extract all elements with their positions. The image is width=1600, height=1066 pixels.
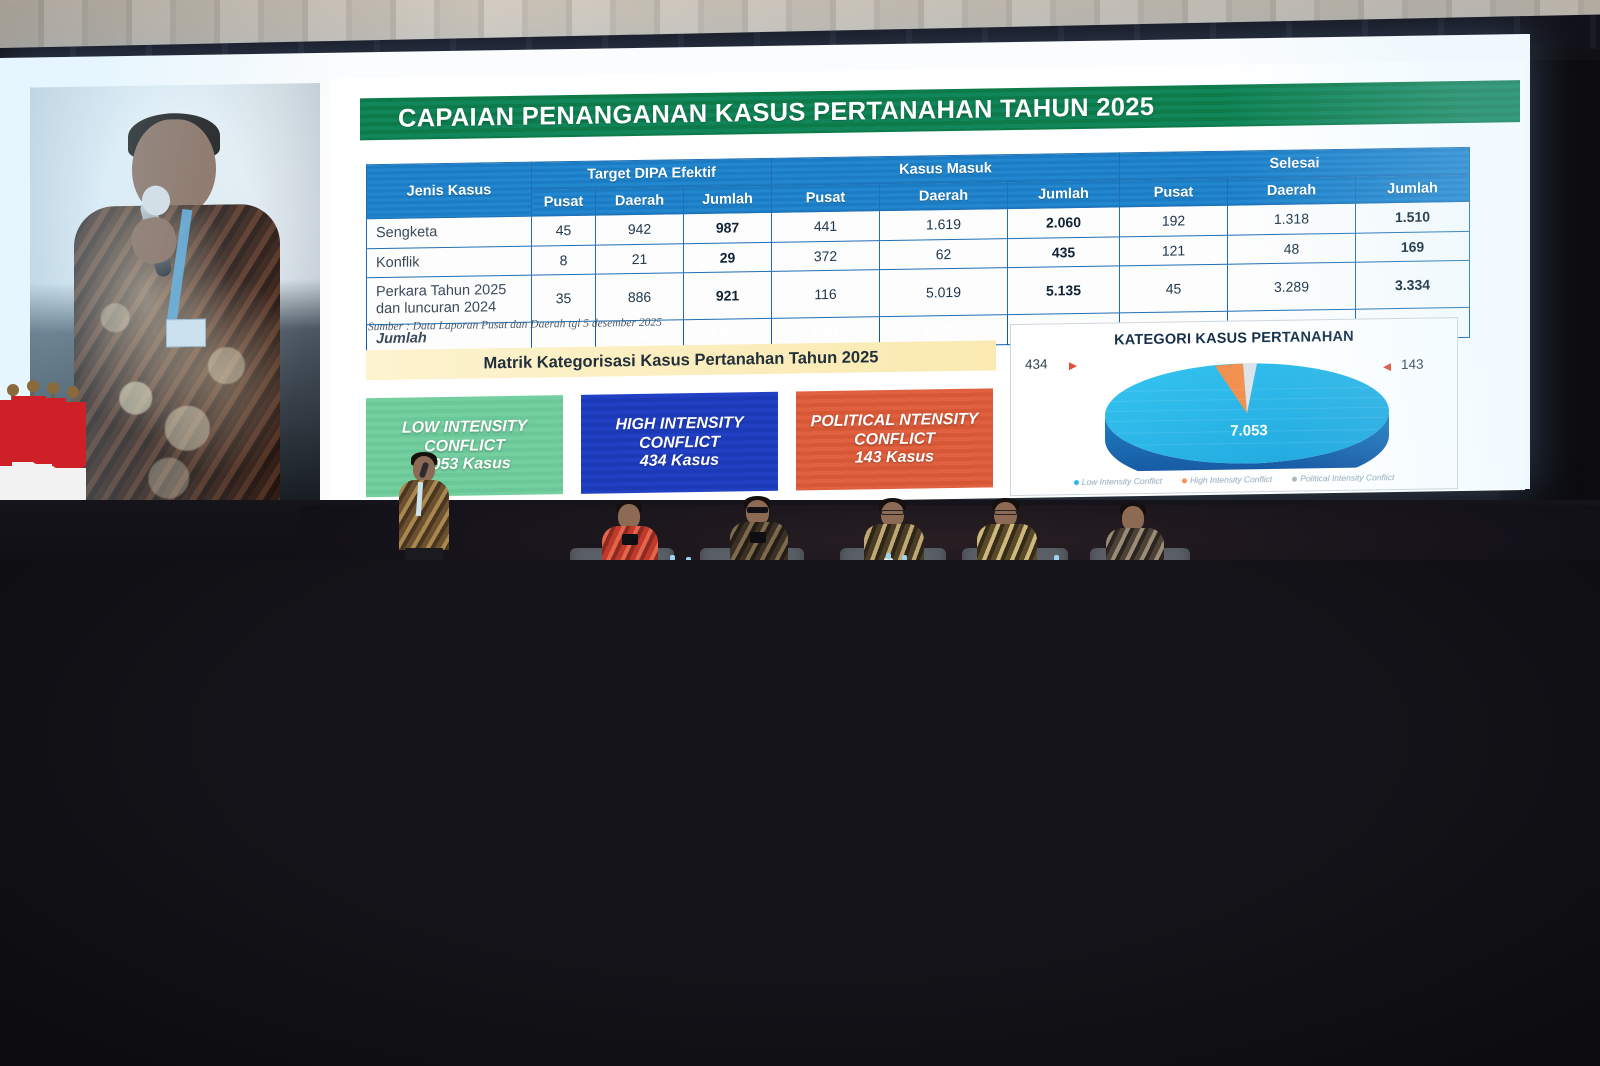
pie-chart-graphic: 7.053 [1097,349,1397,474]
cell: 987 [684,212,772,243]
legend-label-low: Low Intensity Conflict [1082,476,1162,487]
audience-seating [0,560,1600,1066]
matrix-boxes: LOW INTENSITY CONFLICT 7.053 Kasus HIGH … [366,388,1006,498]
cell: 1.619 [880,209,1008,241]
conference-hall-room: CAPAIAN PENANGANAN KASUS PERTANAHAN TAHU… [0,0,1600,1066]
legend-item-low: Low Intensity Conflict [1074,476,1162,487]
slide-title: CAPAIAN PENANGANAN KASUS PERTANAHAN TAHU… [398,92,1154,133]
panelist-phone [622,534,638,545]
legend-label-high: High Intensity Conflict [1190,474,1272,485]
cell: 45 [532,215,596,246]
cell: 169 [1356,231,1470,262]
cell: 8 [532,245,596,276]
subheader-dipa-jumlah: Jumlah [684,185,772,213]
box-line2: CONFLICT [854,430,935,449]
header-target-dipa-efektif: Target DIPA Efektif [532,158,772,189]
cell: 192 [1120,205,1228,236]
projection-screen: CAPAIAN PENANGANAN KASUS PERTANAHAN TAHU… [0,34,1530,513]
cell: 942 [596,214,684,245]
cell: 35 [532,274,596,321]
row-label: Konflik [367,246,532,278]
cell: 121 [1120,235,1228,266]
cell: 62 [880,238,1008,270]
presenter-batik-shirt [399,480,449,550]
panelist-sunglasses [747,507,768,513]
header-jenis-kasus: Jenis Kasus [367,162,532,219]
slide-title-bar: CAPAIAN PENANGANAN KASUS PERTANAHAN TAHU… [360,80,1520,140]
pie-chart-title: KATEGORI KASUS PERTANAHAN [1011,327,1457,350]
cell: 45 [1120,265,1228,313]
cell: 48 [1228,233,1356,265]
panelist-phone [750,532,766,543]
box-line1: POLITICAL NTENSITY [811,410,979,431]
cell: 3.289 [1228,263,1356,311]
legend-item-political: Political Intensity Conflict [1292,472,1394,484]
cell: 1.510 [1356,201,1470,232]
subheader-selesai-daerah: Daerah [1228,176,1356,205]
pie-main-value-label: 7.053 [1230,422,1268,440]
audience-vignette [0,560,1600,1066]
box-cases: 434 Kasus [640,452,719,471]
pie-3d-svg: 7.053 [1097,349,1397,472]
cell: 1.318 [1228,203,1356,235]
row-label: Sengketa [367,216,532,248]
box-line2: CONFLICT [639,433,720,452]
legend-item-high: High Intensity Conflict [1182,474,1272,485]
matrix-box-political-intensity: POLITICAL NTENSITY CONFLICT 143 Kasus [796,388,993,490]
pie-chart-legend: Low Intensity Conflict High Intensity Co… [1011,471,1457,488]
subheader-dipa-pusat: Pusat [532,188,596,216]
panelist-glasses [994,510,1017,515]
cell: 372 [772,240,880,271]
panelist-glasses [881,510,904,515]
cell: 441 [772,211,880,242]
cell: 3.334 [1356,261,1470,309]
cell: 435 [1008,237,1120,268]
cell: 5.135 [1008,266,1120,314]
subheader-masuk-daerah: Daerah [880,182,1008,211]
legend-label-political: Political Intensity Conflict [1300,472,1394,483]
legend-swatch-political [1292,476,1297,481]
subheader-dipa-daerah: Daerah [596,187,684,215]
box-cases: 143 Kasus [855,449,934,468]
pie-chart-card: KATEGORI KASUS PERTANAHAN 434 143 [1010,317,1458,496]
legend-swatch-low [1074,480,1079,485]
subheader-masuk-jumlah: Jumlah [1008,180,1120,209]
cell: 5.019 [880,268,1008,316]
box-line1: HIGH INTENSITY [615,414,743,434]
cell: 21 [596,243,684,274]
cell: 2.060 [1008,207,1120,238]
cell: 29 [684,242,772,273]
legend-swatch-high [1182,478,1187,483]
matrix-box-high-intensity: HIGH INTENSITY CONFLICT 434 Kasus [581,392,778,494]
cell: 921 [684,272,772,320]
presentation-slide: CAPAIAN PENANGANAN KASUS PERTANAHAN TAHU… [330,60,1525,509]
box-line1: LOW INTENSITY [402,417,527,437]
cell: 886 [596,273,684,321]
cell: 116 [772,270,880,318]
pie-callout-high: 434 [1025,357,1048,372]
pie-callout-marker-left [1069,362,1077,370]
subheader-selesai-jumlah: Jumlah [1356,174,1470,203]
subheader-masuk-pusat: Pusat [772,184,880,213]
subheader-selesai-pusat: Pusat [1120,178,1228,207]
row-label: Perkara Tahun 2025 dan luncuran 2024 [367,275,532,324]
pie-callout-political: 143 [1401,357,1424,372]
